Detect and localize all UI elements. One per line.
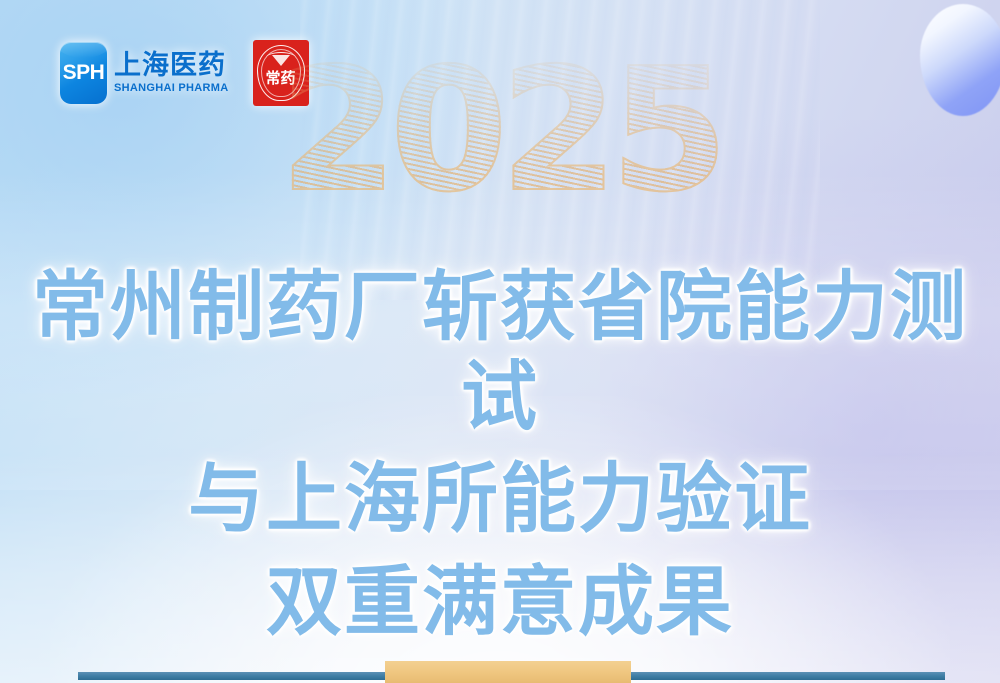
sph-english-name: SHANGHAI PHARMA [114, 83, 229, 94]
headline-line-2: 与上海所能力验证 [0, 454, 1000, 544]
poster-banner: SPH 上海医药 SHANGHAI PHARMA 常药 2025 常州制药厂斩获… [0, 0, 1000, 683]
glossy-orb-decoration [920, 4, 1000, 116]
changyao-emblem-icon: 常药 [257, 45, 305, 101]
changyao-logo: 常药 [253, 40, 309, 106]
changyao-triangle-icon [272, 55, 290, 66]
sph-chinese-name: 上海医药 [114, 52, 229, 79]
logo-row: SPH 上海医药 SHANGHAI PHARMA 常药 [60, 40, 309, 106]
headline-line-3: 双重满意成果 [0, 557, 1000, 647]
bottom-bar-gold [385, 661, 631, 683]
sph-logo: SPH 上海医药 SHANGHAI PHARMA [60, 42, 229, 104]
sph-mark-label: SPH [63, 61, 105, 85]
headline: 常州制药厂斩获省院能力测试 与上海所能力验证 双重满意成果 [0, 262, 1000, 647]
headline-line-1: 常州制药厂斩获省院能力测试 [0, 262, 1000, 441]
sph-mark-icon: SPH [60, 42, 107, 104]
background-streak-texture [300, 0, 820, 300]
sph-logo-text: 上海医药 SHANGHAI PHARMA [114, 52, 229, 94]
changyao-chinese-name: 常药 [265, 67, 295, 88]
